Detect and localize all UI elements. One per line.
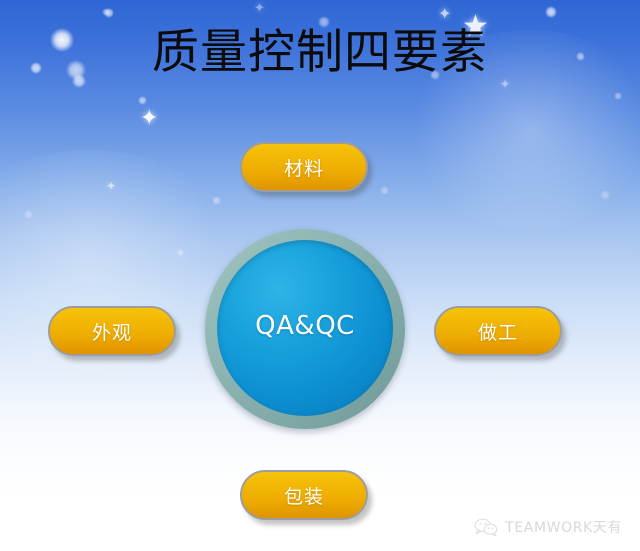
watermark-text: TEAMWORK天有 xyxy=(505,517,622,537)
node-appearance[interactable]: 外观 xyxy=(48,306,176,356)
bokeh-dot xyxy=(212,196,221,205)
bokeh-dot xyxy=(380,186,389,195)
bokeh-dot xyxy=(104,8,114,18)
bokeh-dot xyxy=(545,6,557,18)
wechat-icon xyxy=(474,517,498,537)
node-label: 材料 xyxy=(284,154,324,181)
star-sparkle: ✦ xyxy=(254,2,265,15)
star-sparkle: ✦ xyxy=(438,6,451,22)
node-label: 做工 xyxy=(478,318,518,345)
bokeh-dot xyxy=(102,8,110,16)
bokeh-dot xyxy=(138,96,147,105)
center-hub-label: QA&QC xyxy=(255,311,355,341)
star-sparkle: ✦ xyxy=(106,180,116,192)
slide-canvas: ✦ ✦ ★ ✦ ✦ ✦ ✦ 质量控制四要素 QA&QC 材料 外观 做工 包装 xyxy=(0,0,640,551)
watermark: TEAMWORK天有 xyxy=(474,517,622,537)
node-label: 外观 xyxy=(92,318,132,345)
page-title: 质量控制四要素 xyxy=(0,24,640,82)
bokeh-dot xyxy=(600,190,610,200)
node-label: 包装 xyxy=(284,482,324,509)
node-packaging[interactable]: 包装 xyxy=(240,470,368,520)
star-sparkle: ✦ xyxy=(140,108,158,130)
center-hub[interactable]: QA&QC xyxy=(205,229,405,429)
node-workmanship[interactable]: 做工 xyxy=(434,306,562,356)
node-materials[interactable]: 材料 xyxy=(240,142,368,192)
center-hub-inner: QA&QC xyxy=(217,240,393,416)
bokeh-dot xyxy=(24,210,33,219)
bokeh-dot xyxy=(614,92,622,100)
star-sparkle: ✦ xyxy=(176,248,185,259)
